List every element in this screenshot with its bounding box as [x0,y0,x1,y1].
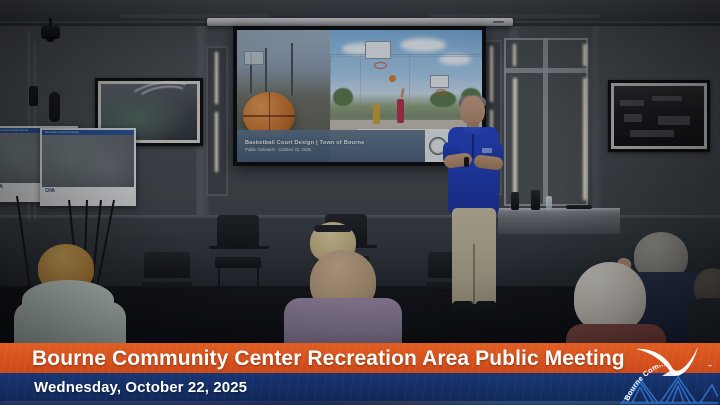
wall-pilaster [592,26,602,216]
station-name-arc: Bourne Community Television [624,365,718,405]
chair [136,252,198,312]
blind-light [513,78,517,200]
attendee-far-right [694,268,720,354]
blind-light [215,112,218,172]
blind-light [583,78,587,200]
counter-speaker [511,192,519,210]
chair [205,215,271,293]
cha-logo-text: CHA [45,188,55,194]
slide-rim [374,62,387,69]
blind-light [583,44,587,66]
cha-logo-text: CHA [0,184,3,190]
presenter-wristwatch [464,157,469,167]
slide-subtitle: Public Outreach · October 22, 2025 [245,147,425,152]
meeting-title: Bourne Community Center Recreation Area … [32,344,625,374]
slide-player-a [373,104,380,124]
presenter-shoe-left [453,301,473,309]
presentation-board-2: Recreation Area Concept CHA [40,128,136,206]
projection-screen-housing [207,18,513,26]
slide-player-b [397,99,404,123]
blind-light [215,52,218,104]
wall-device-box [29,86,38,106]
presenter-shirt-logo [482,148,492,153]
blind-light [513,44,516,66]
wall-device-box [49,92,60,122]
station-name-text: Bourne Community Television [624,365,714,402]
presenter-placket [472,134,474,158]
window-mullion [543,38,548,206]
attendee-hair [574,262,646,332]
meeting-date: Wednesday, October 22, 2025 [34,374,247,400]
sunglasses-icon [314,225,352,232]
board-site-plan [42,135,134,187]
water-bottle [546,196,552,210]
board-footer: CHA [42,187,134,195]
presenter [441,96,507,318]
blind-light [490,46,493,102]
counter-speaker [531,190,540,210]
presenter-head [460,96,485,125]
counter [498,210,620,234]
attendee-blonde-hoodie [14,244,132,354]
station-logo: Bourne Community Television [614,343,718,405]
lower-third-banner: Bourne Community Center Recreation Area … [0,343,720,405]
attendee-bald-purple [286,250,402,354]
video-frame: Basketball Court Design | Town of Bourne… [0,0,720,405]
presenter-leg-seam [473,244,475,304]
screen-roller-knob [493,21,504,23]
counter-tray [566,205,592,209]
slide-title: Basketball Court Design | Town of Bourne [245,140,425,147]
slide-backboard [365,41,391,59]
presenter-shoe-right [476,301,496,309]
framed-historical-photo [608,80,710,152]
